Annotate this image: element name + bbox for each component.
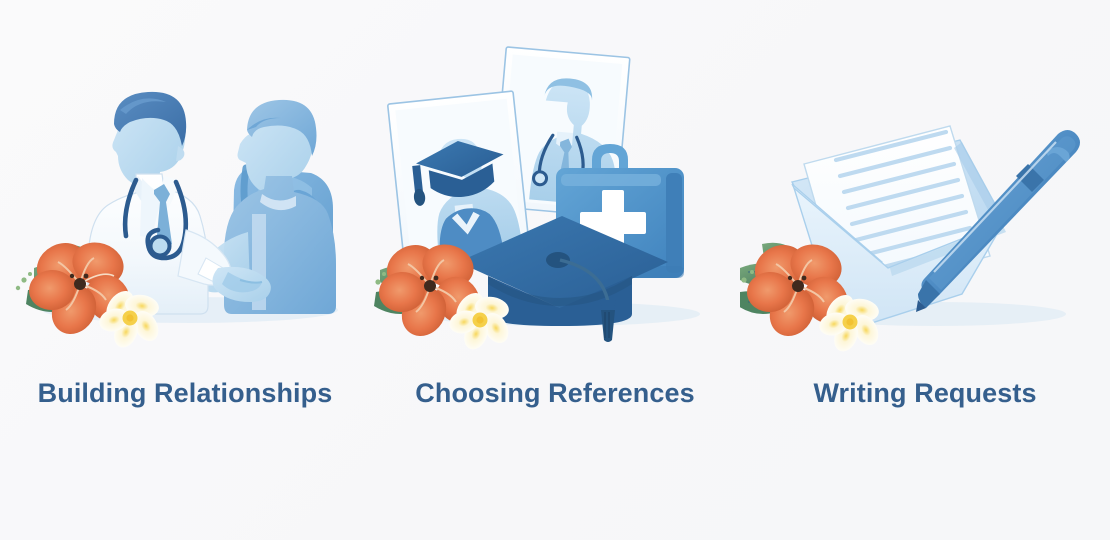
panel-building-relationships: Building Relationships bbox=[0, 0, 370, 540]
panel-writing-requests: Writing Requests bbox=[740, 0, 1110, 540]
panel-caption: Writing Requests bbox=[740, 378, 1110, 409]
panel-caption: Choosing References bbox=[370, 378, 740, 409]
infographic-canvas: Building Relationships bbox=[0, 0, 1110, 540]
panel-row: Building Relationships bbox=[0, 0, 1110, 540]
stethoscope-chestpiece bbox=[151, 237, 170, 256]
illustration-reference-photos-and-graduation-cap bbox=[370, 18, 740, 358]
illustration-doctor-student-handshake bbox=[0, 18, 370, 358]
illustration-letter-envelope-and-pen bbox=[740, 18, 1110, 358]
panel-caption: Building Relationships bbox=[0, 378, 370, 409]
cap-tassel bbox=[600, 300, 616, 342]
panel-choosing-references: Choosing References bbox=[370, 0, 740, 540]
